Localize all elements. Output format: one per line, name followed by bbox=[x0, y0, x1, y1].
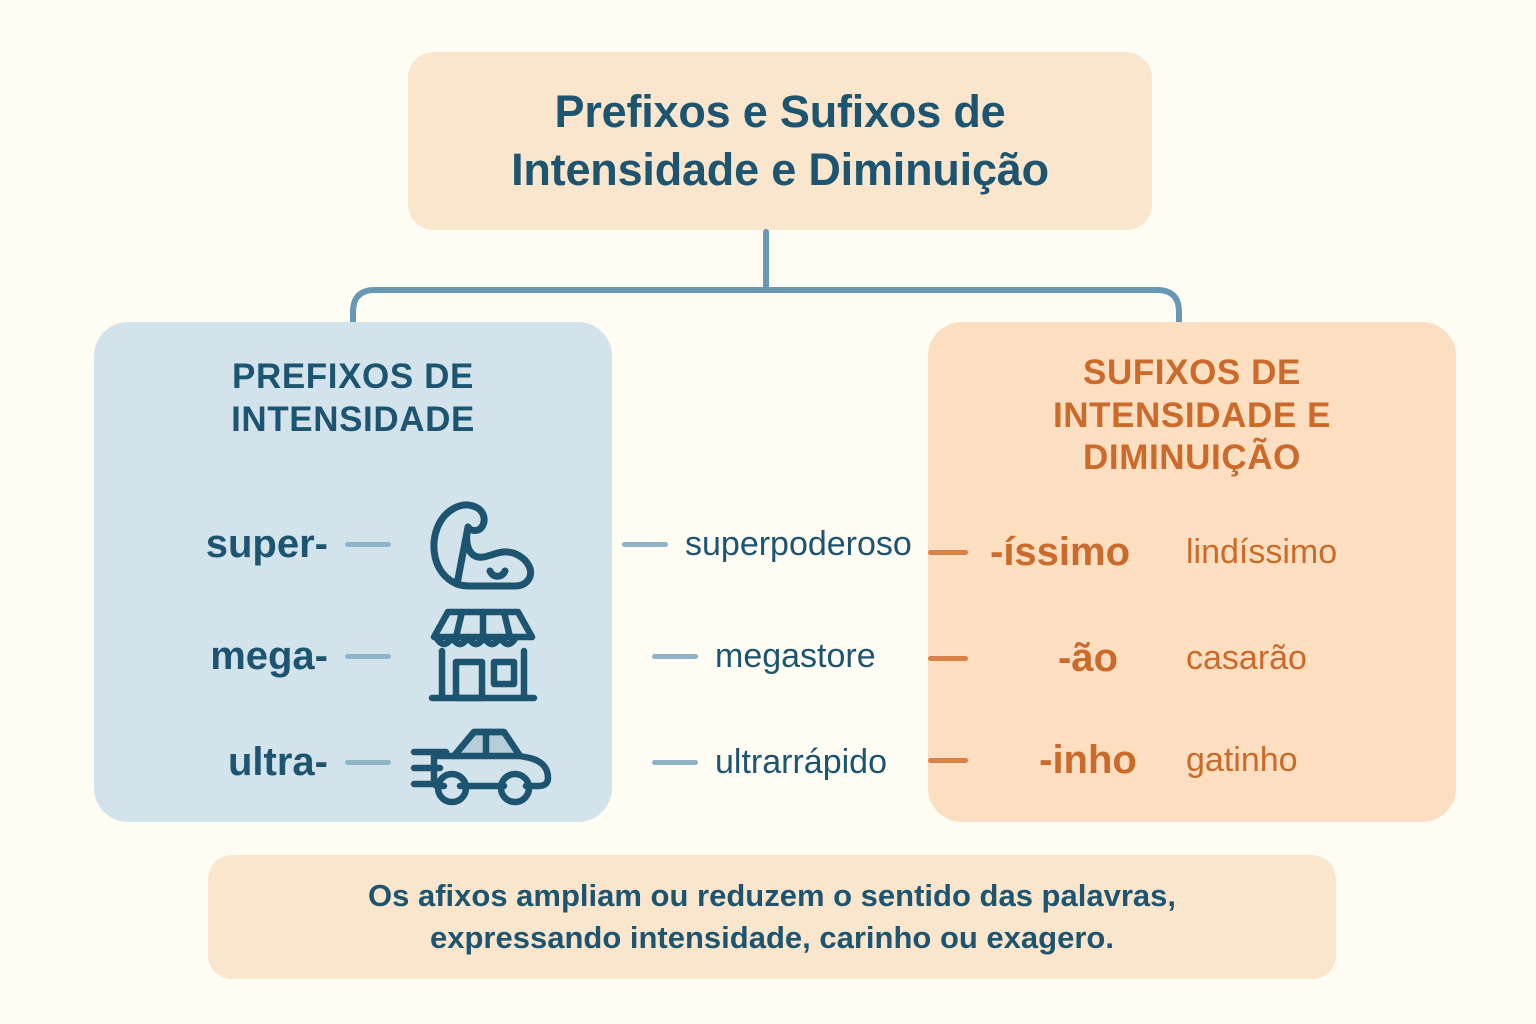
example-word-superpoderoso: superpoderoso bbox=[685, 525, 912, 564]
storefront-icon bbox=[408, 608, 558, 704]
suffix-dash-ao bbox=[928, 656, 968, 661]
flexed-bicep-icon bbox=[408, 496, 558, 592]
page-title: Prefixos e Sufixos de Intensidade e Dimi… bbox=[511, 83, 1049, 200]
title-line-1: Prefixos e Sufixos de bbox=[511, 83, 1049, 142]
prefix-label-ultra: ultra- bbox=[150, 740, 328, 785]
example-row-megastore: megastore bbox=[652, 626, 876, 686]
infographic-canvas: Prefixos e Sufixos de Intensidade e Dimi… bbox=[0, 0, 1536, 1024]
suffix-example-lindissimo: lindíssimo bbox=[1186, 533, 1337, 572]
prefix-label-mega: mega- bbox=[150, 634, 328, 679]
suffix-row-issimo: -íssimo lindíssimo bbox=[928, 512, 1337, 592]
prefix-dash-ultra bbox=[345, 760, 391, 765]
example-dash-superpoderoso bbox=[622, 542, 668, 547]
example-row-superpoderoso: superpoderoso bbox=[622, 514, 912, 574]
title-card: Prefixos e Sufixos de Intensidade e Dimi… bbox=[408, 52, 1152, 230]
suffixes-panel-heading: SUFIXOS DE INTENSIDADE E DIMINUIÇÃO bbox=[928, 322, 1456, 480]
example-word-ultrarrapido: ultrarrápido bbox=[715, 743, 887, 782]
suffixes-heading-line-2: INTENSIDADE E bbox=[964, 395, 1420, 438]
prefix-row-ultra: ultra- bbox=[150, 710, 558, 814]
suffix-row-ao: -ão casarão bbox=[928, 618, 1307, 698]
footer-line-1: Os afixos ampliam ou reduzem o sentido d… bbox=[368, 875, 1176, 917]
suffix-label-ao: -ão bbox=[990, 636, 1186, 681]
prefix-dash-mega bbox=[345, 654, 391, 659]
title-line-2: Intensidade e Diminuição bbox=[511, 141, 1049, 200]
prefixes-heading-line-1: PREFIXOS DE bbox=[134, 356, 572, 399]
suffix-example-casarao: casarão bbox=[1186, 639, 1307, 678]
example-dash-ultrarrapido bbox=[652, 760, 698, 765]
example-dash-megastore bbox=[652, 654, 698, 659]
footer-caption: Os afixos ampliam ou reduzem o sentido d… bbox=[368, 875, 1176, 958]
suffixes-heading-line-3: DIMINUIÇÃO bbox=[964, 437, 1420, 480]
suffix-example-gatinho: gatinho bbox=[1186, 741, 1298, 780]
suffix-row-inho: -inho gatinho bbox=[928, 720, 1298, 800]
prefix-dash-super bbox=[345, 542, 391, 547]
footer-line-2: expressando intensidade, carinho ou exag… bbox=[368, 917, 1176, 959]
prefix-row-mega: mega- bbox=[150, 604, 558, 708]
suffix-dash-issimo bbox=[928, 550, 968, 555]
prefix-label-super: super- bbox=[150, 522, 328, 567]
footer-card: Os afixos ampliam ou reduzem o sentido d… bbox=[208, 855, 1336, 979]
example-word-megastore: megastore bbox=[715, 637, 876, 676]
suffix-label-inho: -inho bbox=[990, 738, 1186, 783]
fast-car-icon bbox=[408, 714, 558, 810]
suffix-label-issimo: -íssimo bbox=[990, 530, 1186, 575]
suffix-dash-inho bbox=[928, 758, 968, 763]
example-row-ultrarrapido: ultrarrápido bbox=[652, 732, 887, 792]
prefixes-panel-heading: PREFIXOS DE INTENSIDADE bbox=[94, 322, 612, 441]
prefixes-heading-line-2: INTENSIDADE bbox=[134, 399, 572, 442]
suffixes-heading-line-1: SUFIXOS DE bbox=[964, 352, 1420, 395]
prefix-row-super: super- bbox=[150, 492, 558, 596]
